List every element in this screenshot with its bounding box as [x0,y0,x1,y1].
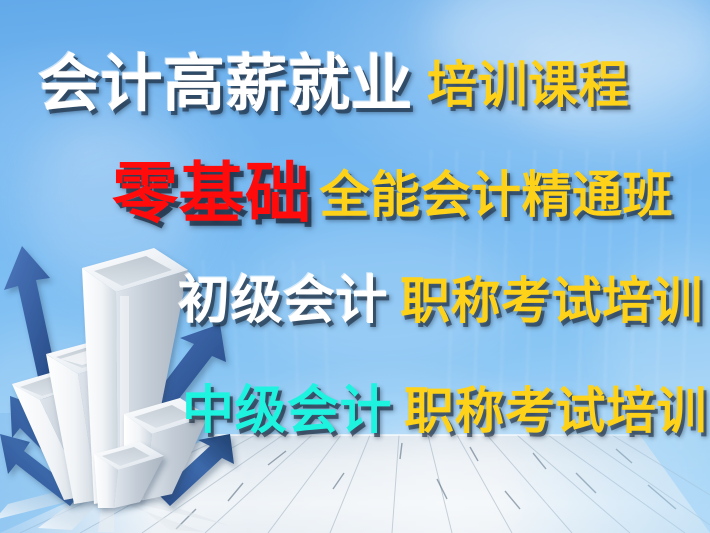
headline-line-1-white-text: 会计高薪就业 [38,33,413,123]
headline-line-4: 中级会计职称考试培训 [182,368,707,443]
headline-line-2-yellow-text: 全能会计精通班 [320,155,674,227]
headline-line-2-red-text: 零基础 [112,140,312,236]
headline-line-3-yellow-text: 职称考试培训 [400,261,703,333]
headline-line-2: 零基础全能会计精通班 [112,140,673,236]
accounting-training-banner: 会计高薪就业培训课程 零基础全能会计精通班 初级会计职称考试培训 中级会计职称考… [0,0,710,533]
headline-line-3-white-text: 初级会计 [178,258,388,333]
headline-line-4-cyan-text: 中级会计 [182,368,392,443]
bar-front-lowest [94,442,164,508]
headline-line-4-yellow-text: 职称考试培训 [404,371,707,443]
headline-line-1-yellow-text: 培训课程 [427,45,629,117]
headline-line-1: 会计高薪就业培训课程 [38,33,629,123]
headline-line-3: 初级会计职称考试培训 [178,258,703,333]
